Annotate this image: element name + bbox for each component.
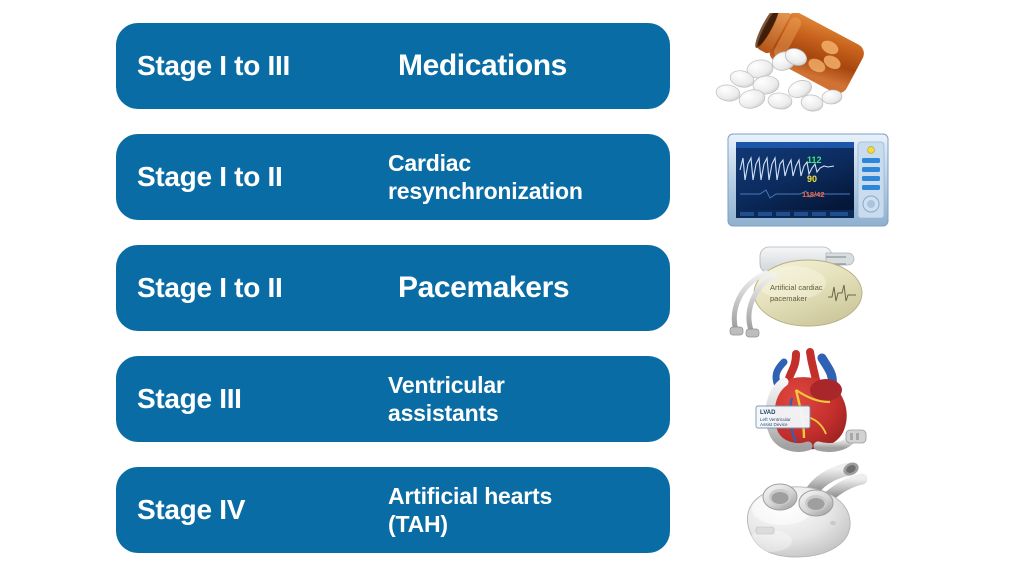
stage-label: Stage I to II — [137, 163, 282, 191]
treatment-row: Stage IV Artificial hearts (TAH) — [0, 457, 1024, 567]
cardiac-monitor-image: 112 90 118/42 — [700, 124, 920, 234]
stage-label: Stage I to III — [137, 52, 290, 80]
treatment-label: Cardiac resynchronization — [388, 149, 658, 205]
total-artificial-heart-image — [700, 457, 920, 567]
heart-with-lvad-image: LVAD Left Ventricular Assist Device — [700, 346, 920, 456]
stage-bar[interactable]: Stage III Ventricular assistants — [116, 356, 670, 442]
pacemaker-caption-line-2: pacemaker — [770, 294, 808, 303]
stage-bar[interactable]: Stage I to II Cardiac resynchronization — [116, 134, 670, 220]
monitor-spo2: 90 — [807, 174, 817, 184]
monitor-heart-rate: 112 — [807, 155, 822, 165]
pacemaker-caption-line-1: Artificial cardiac — [770, 283, 823, 292]
stage-label: Stage III — [137, 385, 242, 413]
treatment-line: Ventricular — [388, 372, 505, 398]
treatment-row: Stage I to II Cardiac resynchronization — [0, 124, 1024, 234]
treatment-label: Artificial hearts (TAH) — [388, 482, 658, 538]
treatment-line: (TAH) — [388, 511, 448, 537]
treatment-line: Artificial hearts — [388, 483, 552, 509]
treatment-line: Cardiac — [388, 150, 471, 176]
treatment-line: resynchronization — [388, 178, 583, 204]
stage-label: Stage IV — [137, 496, 245, 524]
lvad-callout-line-2: Assist Device — [760, 422, 788, 427]
treatment-label: Ventricular assistants — [388, 371, 658, 427]
treatment-label: Pacemakers — [398, 270, 668, 307]
treatment-row: Stage I to III Medications — [0, 13, 1024, 123]
monitor-blood-pressure: 118/42 — [802, 190, 825, 199]
treatment-row: Stage III Ventricular assistants — [0, 346, 1024, 456]
artificial-cardiac-pacemaker-image: Artificial cardiac pacemaker — [700, 235, 920, 345]
stage-label: Stage I to II — [137, 274, 282, 302]
stage-bar[interactable]: Stage I to II Pacemakers — [116, 245, 670, 331]
treatment-line: assistants — [388, 400, 499, 426]
treatment-stages-slide: Stage I to III Medications — [0, 0, 1024, 576]
treatment-label: Medications — [398, 48, 668, 85]
stage-bar[interactable]: Stage I to III Medications — [116, 23, 670, 109]
pill-bottle-with-spilled-tablets-image — [700, 13, 920, 123]
lvad-callout-title: LVAD — [760, 410, 776, 416]
treatment-row: Stage I to II Pacemakers — [0, 235, 1024, 345]
stage-bar[interactable]: Stage IV Artificial hearts (TAH) — [116, 467, 670, 553]
